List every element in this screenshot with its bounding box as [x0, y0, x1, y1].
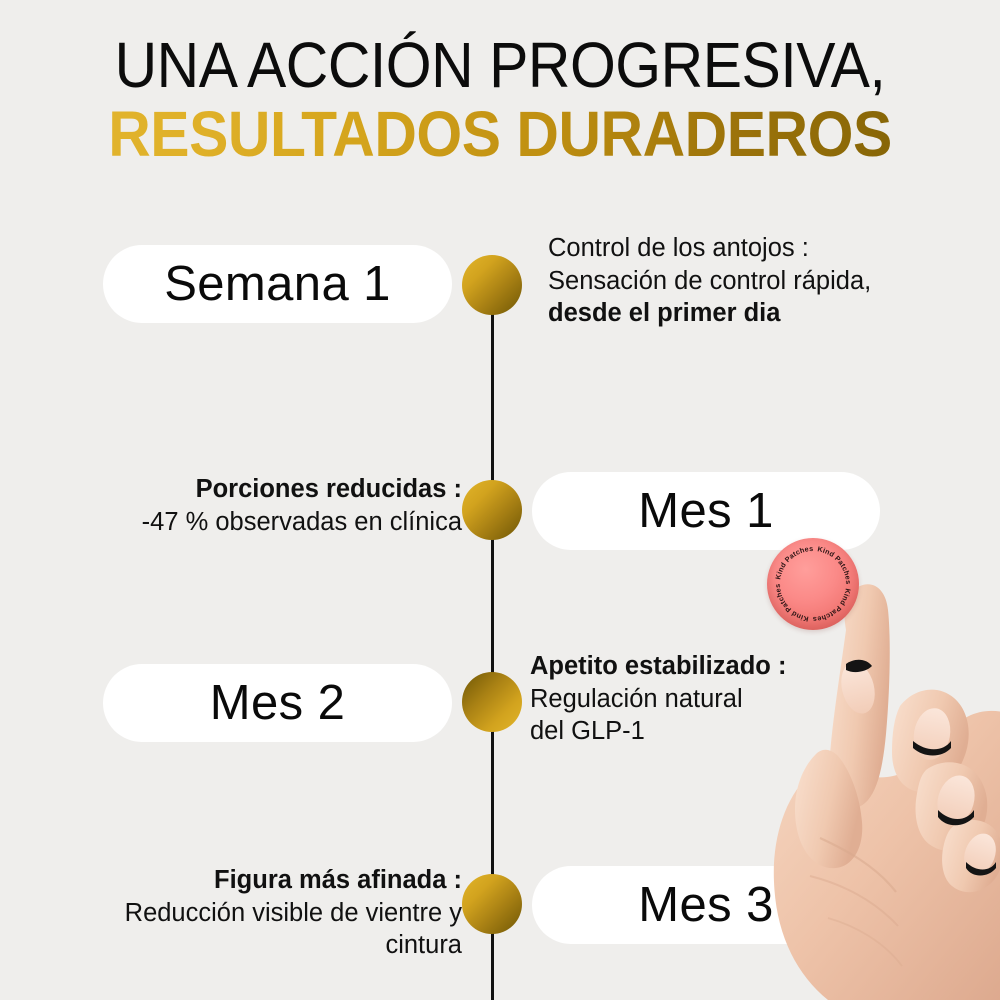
- timeline-node-mes-1: [462, 480, 522, 540]
- note-line: Apetito estabilizado :: [530, 650, 995, 683]
- timeline-node-mes-2: [462, 672, 522, 732]
- timeline-node-semana-1: [462, 255, 522, 315]
- nail-pinky: [959, 829, 1000, 879]
- timeline-note-mes-2: Apetito estabilizado : Regulación natura…: [530, 650, 995, 748]
- timeline-pill-mes-2[interactable]: Mes 2: [103, 664, 452, 742]
- nail-tip-ring: [938, 810, 974, 825]
- note-line: del GLP-1: [530, 715, 995, 748]
- nail-tip-pinky: [966, 862, 996, 876]
- note-line: Control de los antojos :: [548, 232, 995, 265]
- patch-brand-text-3: Kind Patches: [812, 588, 852, 624]
- note-line: cintura: [40, 929, 462, 962]
- note-line: Figura más afinada :: [40, 864, 462, 897]
- timeline-pill-label: Mes 3: [638, 877, 773, 933]
- patch-brand-text-2: Kind Patches: [817, 544, 853, 584]
- nail-ring: [932, 771, 980, 829]
- headline-line-accent: RESULTADOS DURADEROS: [40, 103, 960, 166]
- note-line: Sensación de control rápida,: [548, 265, 995, 298]
- timeline-note-mes-1: Porciones reducidas :-47 % observadas en…: [40, 473, 462, 538]
- headline-line-primary: UNA ACCIÓN PROGRESIVA,: [40, 34, 960, 97]
- patch-brand-text-4: Kind Patches: [773, 583, 809, 623]
- note-line: Regulación natural: [530, 683, 995, 716]
- kind-patches-product-patch: Kind Patches Kind Patches Kind Patches K…: [767, 538, 859, 630]
- timeline-pill-label: Mes 1: [638, 483, 773, 539]
- timeline-pill-mes-1[interactable]: Mes 1: [532, 472, 880, 550]
- patch-brand-ring: Kind Patches Kind Patches Kind Patches K…: [767, 538, 859, 630]
- note-line: -47 % observadas en clínica: [40, 506, 462, 539]
- timeline-note-mes-3: Figura más afinada :Reducción visible de…: [40, 864, 462, 962]
- timeline-node-mes-3: [462, 874, 522, 934]
- page-title: UNA ACCIÓN PROGRESIVA, RESULTADOS DURADE…: [0, 34, 1000, 165]
- timeline-pill-label: Semana 1: [164, 256, 391, 312]
- timeline-pill-label: Mes 2: [210, 675, 345, 731]
- note-line: Porciones reducidas :: [40, 473, 462, 506]
- timeline-pill-mes-3[interactable]: Mes 3: [532, 866, 880, 944]
- timeline-note-semana-1: Control de los antojos :Sensación de con…: [548, 232, 995, 330]
- timeline-pill-semana-1[interactable]: Semana 1: [103, 245, 452, 323]
- note-line: Reducción visible de vientre y: [40, 897, 462, 930]
- note-line: desde el primer dia: [548, 297, 995, 330]
- infographic-canvas: UNA ACCIÓN PROGRESIVA, RESULTADOS DURADE…: [0, 0, 1000, 1000]
